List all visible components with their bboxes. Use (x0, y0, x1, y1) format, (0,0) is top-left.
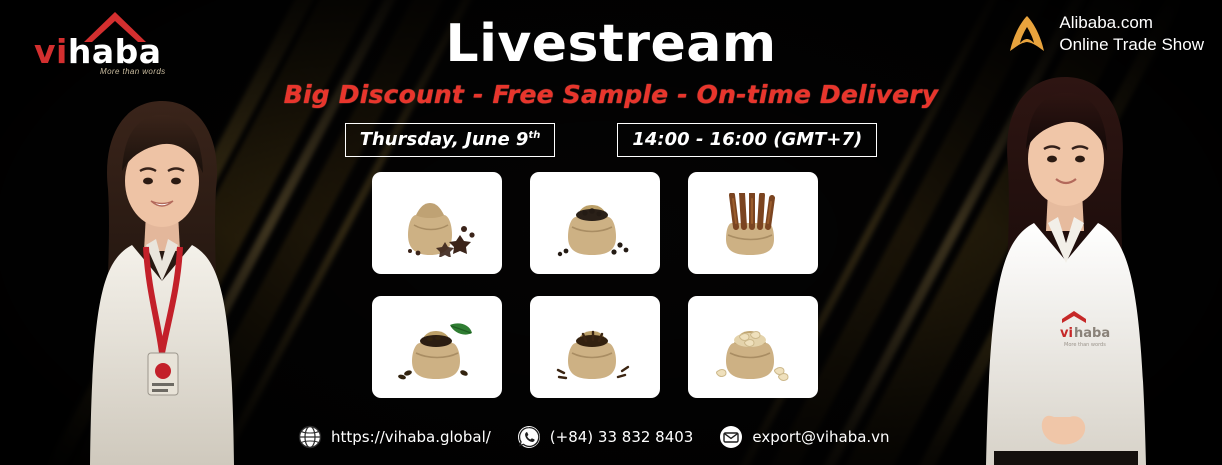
presenter-left (62, 85, 262, 465)
page-title: Livestream (276, 14, 946, 74)
date-chip-label: Thursday, June 9 (360, 129, 529, 150)
contact-website-text: https://vihaba.global/ (331, 428, 491, 446)
contact-whatsapp[interactable]: (+84) 33 832 8403 (517, 425, 694, 449)
black-tea-sack-icon (394, 317, 480, 381)
logo-wordmark-haba: haba (68, 32, 162, 71)
product-tile-black-pepper (530, 172, 660, 274)
product-grid (372, 172, 818, 398)
contact-email-text: export@vihaba.vn (752, 428, 889, 446)
contact-whatsapp-text: (+84) 33 832 8403 (550, 428, 694, 446)
headline-block: Livestream Big Discount - Free Sample - … (276, 0, 946, 157)
promo-subtitle: Big Discount - Free Sample - On-time Del… (276, 80, 946, 109)
product-tile-star-anise (372, 172, 502, 274)
contact-email[interactable]: export@vihaba.vn (719, 425, 889, 449)
alibaba-a-icon (1007, 13, 1047, 55)
product-tile-clove (530, 296, 660, 398)
product-tile-cinnamon (688, 172, 818, 274)
cinnamon-sticks-sack-icon (710, 193, 796, 257)
black-pepper-sack-icon (552, 193, 638, 257)
alibaba-label-line2: Online Trade Show (1059, 34, 1204, 56)
time-chip: 14:00 - 16:00 (GMT+7) (617, 123, 877, 157)
contact-website[interactable]: https://vihaba.global/ (298, 425, 491, 449)
email-icon (719, 425, 743, 449)
livestream-banner: vi haba More than words vihaba More than… (0, 0, 1222, 465)
product-tile-cashew (688, 296, 818, 398)
date-chip-suffix: th (528, 130, 540, 141)
alibaba-label-line1: Alibaba.com (1059, 12, 1204, 34)
vihaba-logo: vihaba More than words (34, 10, 194, 78)
globe-icon (298, 425, 322, 449)
cashew-nuts-sack-icon (710, 317, 796, 381)
logo-tagline: More than words (100, 67, 166, 76)
presenter-right: vi haba More than words (950, 65, 1180, 465)
star-anise-sack-icon (394, 193, 480, 257)
svg-text:haba: haba (1074, 326, 1110, 341)
product-tile-black-tea (372, 296, 502, 398)
contact-bar: https://vihaba.global/ (+84) 33 832 8403… (298, 425, 890, 449)
logo-wordmark: vihaba (34, 32, 194, 71)
logo-wordmark-vi: vi (34, 32, 68, 71)
schedule-chips: Thursday, June 9th 14:00 - 16:00 (GMT+7) (276, 123, 946, 157)
date-chip: Thursday, June 9th (345, 123, 556, 157)
svg-text:vi: vi (1060, 326, 1073, 341)
svg-text:More than words: More than words (1064, 342, 1106, 348)
alibaba-badge: Alibaba.com Online Trade Show (1007, 12, 1204, 56)
clove-sack-icon (552, 317, 638, 381)
whatsapp-icon (517, 425, 541, 449)
